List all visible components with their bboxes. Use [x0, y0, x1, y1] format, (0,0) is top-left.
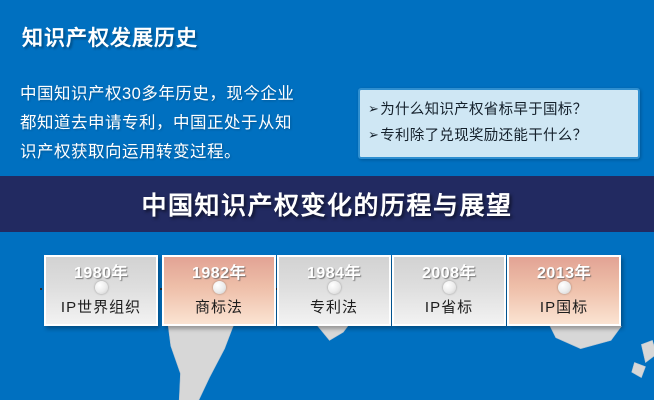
question-item-2-label: 专利除了兑现奖励还能干什么？	[380, 124, 587, 149]
question-item-2: ➢ 专利除了兑现奖励还能干什么？	[368, 123, 630, 149]
timeline-node-dot	[443, 281, 456, 294]
timeline: 1980年 IP世界组织 1982年 商标法 1984年 专利法 2008年 I…	[0, 255, 654, 335]
timeline-node-dot	[213, 281, 226, 294]
intro-line-3: 识产权获取向运用转变过程。	[20, 138, 338, 167]
intro-line-2: 都知道去申请专利，中国正处于从知	[20, 109, 338, 138]
intro-line-1: 中国知识产权30多年历史，现今企业	[20, 80, 338, 109]
intro-paragraph: 中国知识产权30多年历史，现今企业 都知道去申请专利，中国正处于从知 识产权获取…	[20, 80, 338, 167]
question-item-1-label: 为什么知识产权省标早于国标？	[380, 98, 587, 123]
timeline-node-dot	[328, 281, 341, 294]
infographic-poster: 知识产权发展历史 中国知识产权30多年历史，现今企业 都知道去申请专利，中国正处…	[0, 0, 654, 400]
timeline-item-2013: 2013年 IP国标	[507, 255, 621, 326]
timeline-item-1982: 1982年 商标法	[162, 255, 276, 326]
banner-title: 中国知识产权变化的历程与展望	[0, 176, 654, 232]
timeline-node-dot	[558, 281, 571, 294]
timeline-item-1980: 1980年 IP世界组织	[44, 255, 158, 326]
page-title: 知识产权发展历史	[22, 22, 198, 52]
timeline-item-2008: 2008年 IP省标	[392, 255, 506, 326]
question-item-1: ➢ 为什么知识产权省标早于国标？	[368, 97, 630, 123]
timeline-item-1984: 1984年 专利法	[277, 255, 391, 326]
timeline-node-dot	[95, 281, 108, 294]
arrow-bullet-icon: ➢	[368, 122, 379, 147]
arrow-bullet-icon: ➢	[368, 96, 379, 121]
question-callout-box: ➢ 为什么知识产权省标早于国标？ ➢ 专利除了兑现奖励还能干什么？	[358, 88, 640, 159]
